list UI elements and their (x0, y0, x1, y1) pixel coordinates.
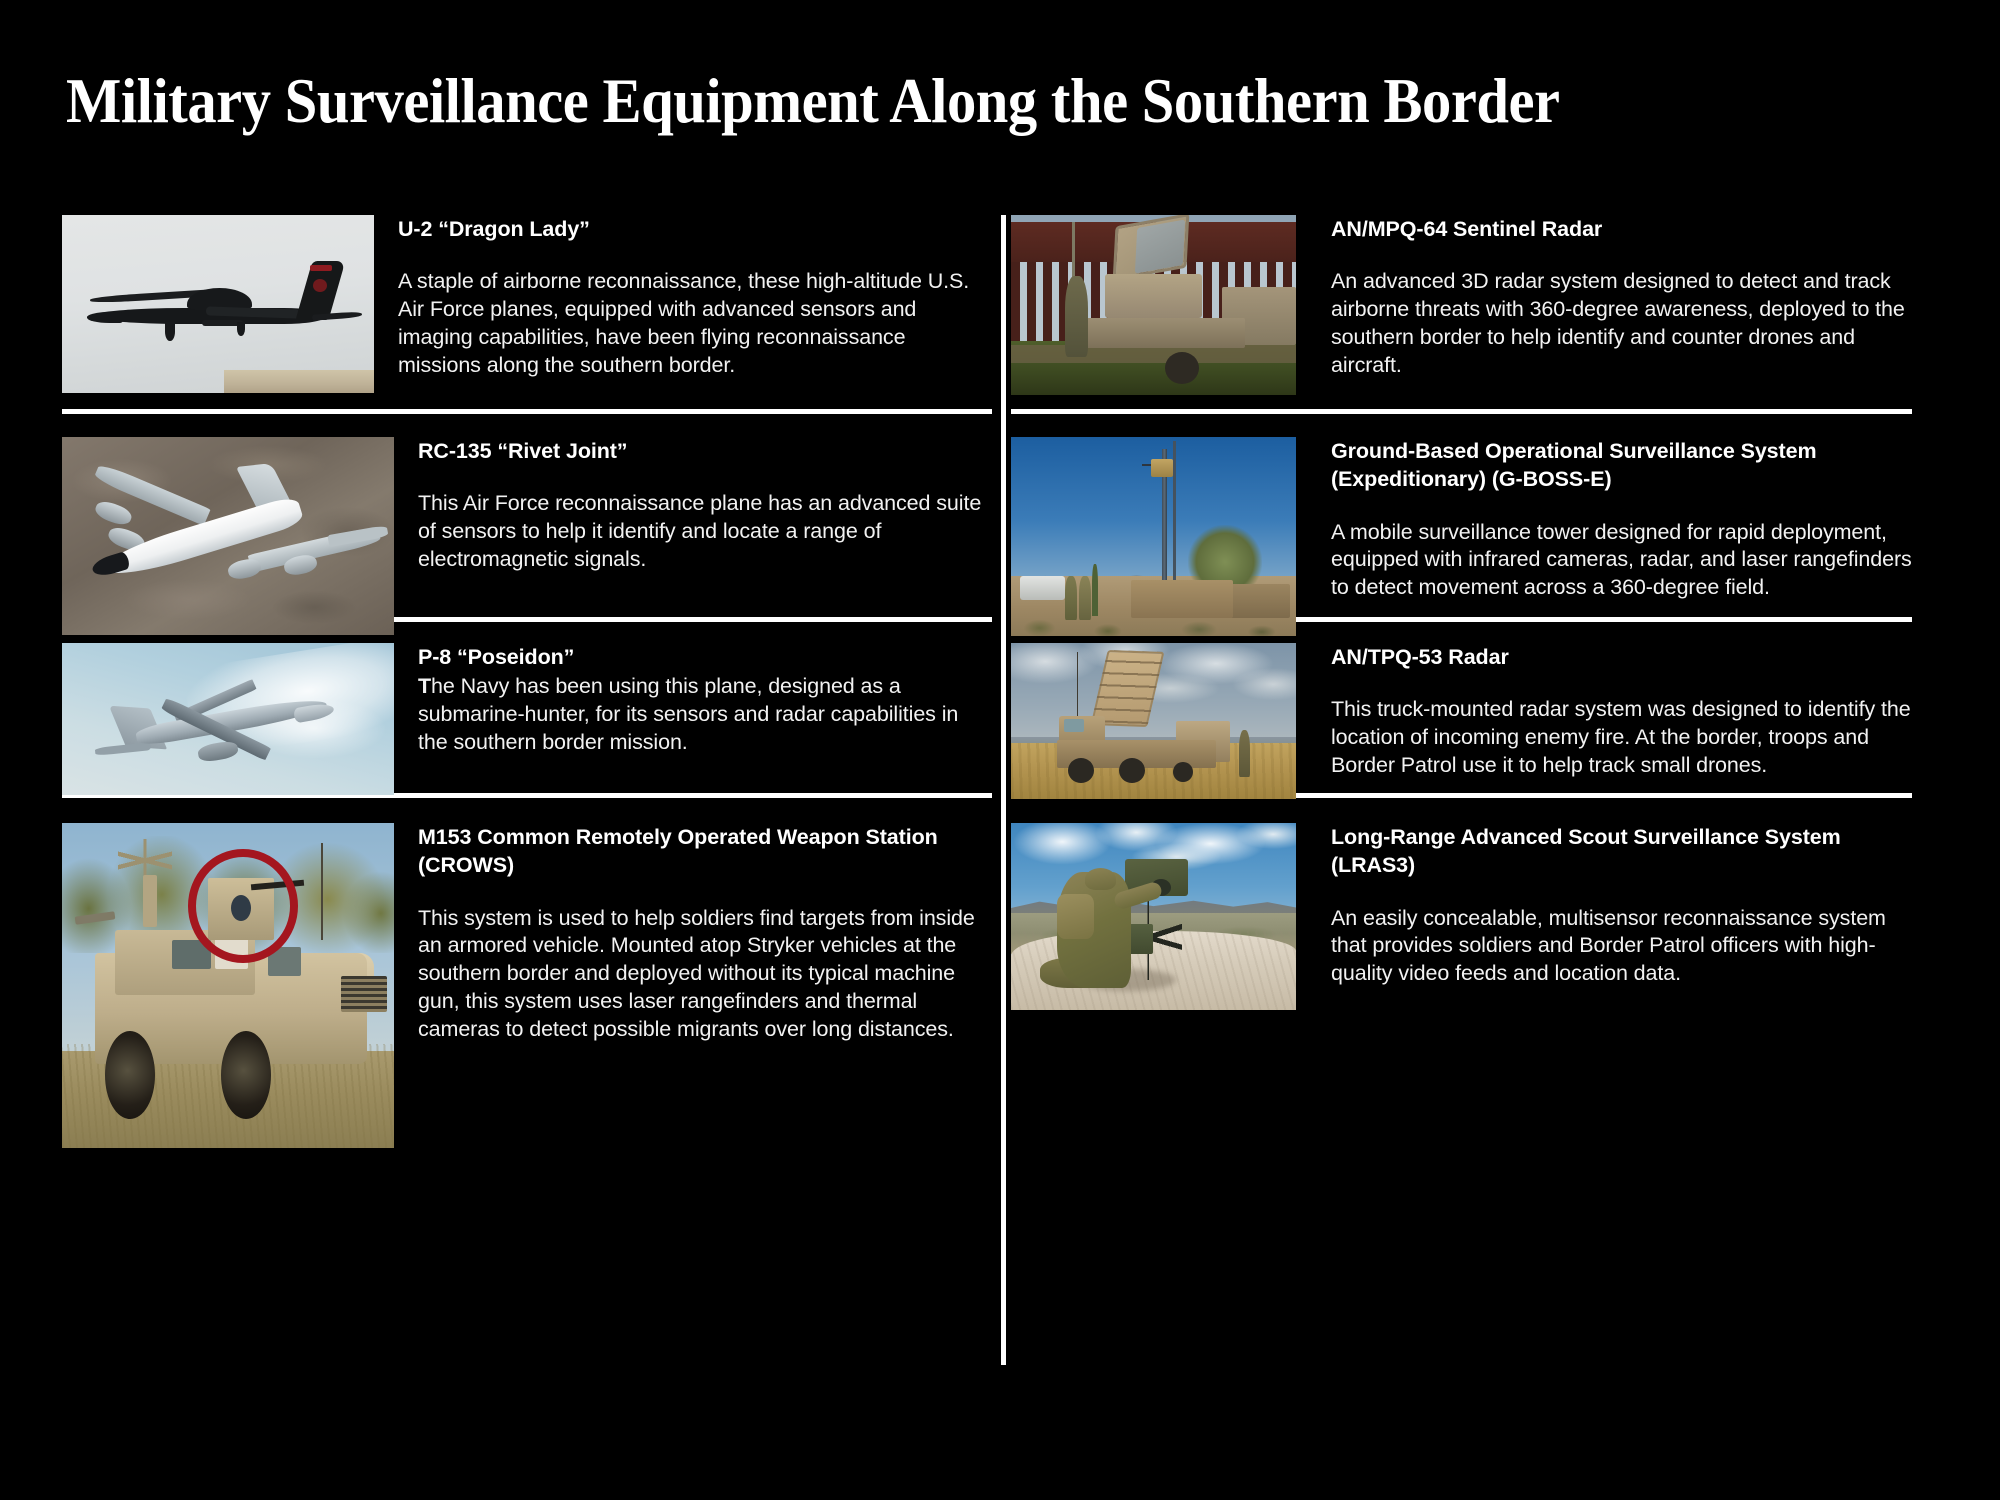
entry-image-an-mpq-64-sentinel-radar (1011, 215, 1296, 395)
entry-image-u-2-dragon-lady (62, 215, 374, 393)
entry-image-m153-crows (62, 823, 394, 1148)
entry-body: An easily concealable, multisensor recon… (1331, 905, 1912, 988)
entry-heading: M153 Common Remotely Operated Weapon Sta… (418, 823, 992, 880)
entry-card-rc-135-rivet-joint[interactable]: RC-135 “Rivet Joint” This Air Force reco… (62, 437, 992, 635)
entry-image-g-boss-e (1011, 437, 1296, 636)
row-divider-left-1 (62, 409, 992, 414)
entry-heading: AN/TPQ-53 Radar (1331, 643, 1912, 671)
entry-heading: Ground-Based Operational Surveillance Sy… (1331, 437, 1912, 494)
entry-heading: AN/MPQ-64 Sentinel Radar (1331, 215, 1912, 243)
infographic-page: Military Surveillance Equipment Along th… (0, 0, 2000, 1500)
entry-card-p-8-poseidon[interactable]: P-8 “Poseidon” The Navy has been using t… (62, 643, 992, 795)
entry-body: An advanced 3D radar system designed to … (1331, 268, 1912, 379)
red-circle-annotation (188, 849, 298, 963)
entry-heading: P-8 “Poseidon” (418, 643, 992, 671)
entry-image-rc-135-rivet-joint (62, 437, 394, 635)
row-divider-right-1 (1011, 409, 1912, 414)
equipment-grid: U-2 “Dragon Lady” A staple of airborne r… (62, 215, 1912, 1365)
column-divider (1001, 215, 1006, 1365)
entry-heading: Long-Range Advanced Scout Surveillance S… (1331, 823, 1912, 880)
entry-heading: U-2 “Dragon Lady” (398, 215, 992, 243)
entry-heading: RC-135 “Rivet Joint” (418, 437, 992, 465)
entry-body: A mobile surveillance tower designed for… (1331, 519, 1912, 602)
entry-card-an-mpq-64-sentinel-radar[interactable]: AN/MPQ-64 Sentinel Radar An advanced 3D … (1011, 215, 1912, 395)
entry-body-lead: T (418, 674, 431, 698)
entry-image-lras3 (1011, 823, 1296, 1010)
entry-card-u-2-dragon-lady[interactable]: U-2 “Dragon Lady” A staple of airborne r… (62, 215, 992, 393)
entry-body: The Navy has been using this plane, desi… (418, 673, 992, 756)
entry-image-an-tpq-53-radar (1011, 643, 1296, 799)
entry-body: A staple of airborne reconnaissance, the… (398, 268, 992, 379)
entry-card-an-tpq-53-radar[interactable]: AN/TPQ-53 Radar This truck-mounted radar… (1011, 643, 1912, 799)
page-title: Military Surveillance Equipment Along th… (66, 68, 1814, 134)
entry-body: This truck-mounted radar system was desi… (1331, 696, 1912, 779)
entry-image-p-8-poseidon (62, 643, 394, 795)
entry-body-rest: he Navy has been using this plane, desig… (418, 674, 958, 753)
entry-body: This Air Force reconnaissance plane has … (418, 490, 992, 573)
entry-card-g-boss-e[interactable]: Ground-Based Operational Surveillance Sy… (1011, 437, 1912, 636)
entry-card-m153-crows[interactable]: M153 Common Remotely Operated Weapon Sta… (62, 823, 992, 1148)
entry-body: This system is used to help soldiers fin… (418, 905, 992, 1044)
entry-card-lras3[interactable]: Long-Range Advanced Scout Surveillance S… (1011, 823, 1912, 1010)
